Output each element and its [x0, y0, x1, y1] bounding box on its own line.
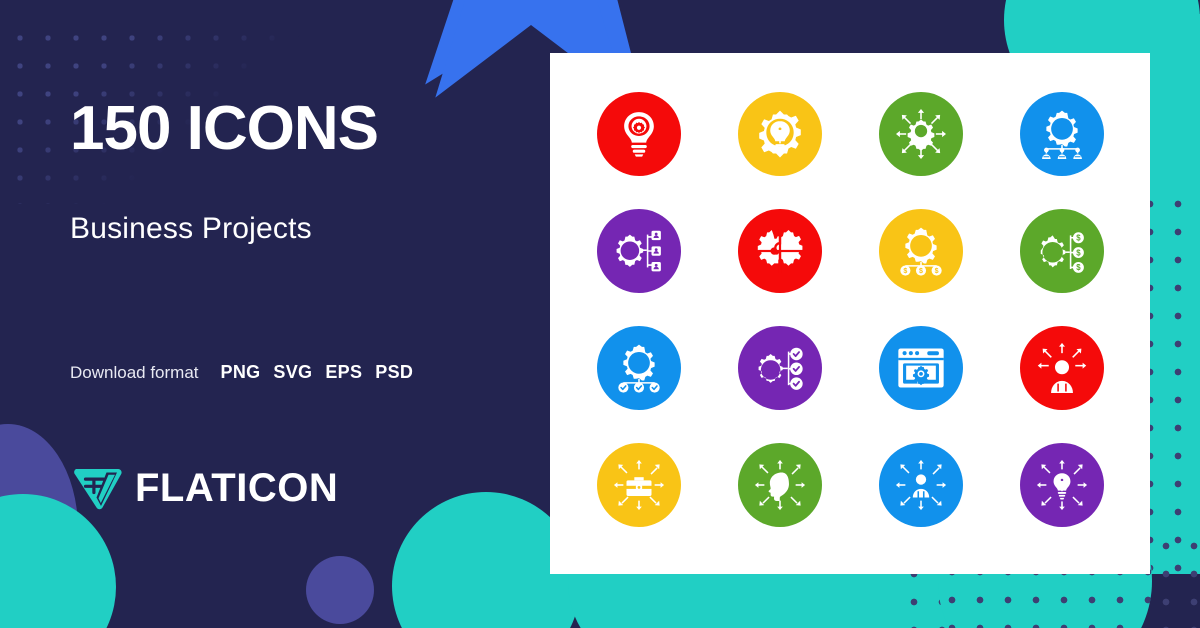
lightbulb-arrows-expand-icon[interactable] — [1020, 443, 1104, 527]
icon-cell — [568, 75, 709, 192]
icon-cell: $$$ — [850, 192, 991, 309]
flaticon-logo[interactable]: FLATICON — [72, 462, 338, 514]
page-title: 150 ICONS — [70, 98, 378, 160]
icon-cell — [709, 427, 850, 544]
icon-cell — [709, 75, 850, 192]
head-profile-arrows-icon[interactable] — [738, 443, 822, 527]
icon-cell — [709, 192, 850, 309]
info-column: 150 ICONS Business Projects Download for… — [70, 0, 540, 628]
gear-checkmarks-tree-icon[interactable] — [597, 326, 681, 410]
svg-text:$: $ — [1076, 248, 1081, 257]
download-format-label: Download format — [70, 363, 199, 383]
browser-window-gear-icon[interactable] — [879, 326, 963, 410]
briefcase-arrows-expand-icon[interactable] — [597, 443, 681, 527]
svg-text:$: $ — [903, 268, 907, 275]
page-subtitle: Business Projects — [70, 212, 312, 246]
icon-grid-panel: $$$ $$$ — [550, 53, 1150, 574]
gear-workflow-list-icon[interactable] — [597, 209, 681, 293]
gear-lightbulb-icon[interactable] — [738, 92, 822, 176]
icon-cell — [709, 310, 850, 427]
flaticon-logo-icon — [72, 462, 124, 514]
gear-checklist-icon[interactable] — [738, 326, 822, 410]
person-arrows-expand-icon[interactable] — [1020, 326, 1104, 410]
icon-cell — [568, 192, 709, 309]
icon-cell — [991, 310, 1132, 427]
two-gears-merge-icon[interactable] — [738, 209, 822, 293]
icon-cell — [850, 427, 991, 544]
svg-text:$: $ — [1076, 233, 1081, 242]
icon-cell — [991, 75, 1132, 192]
user-arrows-expand-icon[interactable] — [879, 443, 963, 527]
format-svg[interactable]: SVG — [273, 362, 312, 383]
lightbulb-gear-icon[interactable] — [597, 92, 681, 176]
svg-text:$: $ — [934, 268, 938, 275]
gear-money-distribution-icon[interactable]: $$$ — [879, 209, 963, 293]
icon-cell — [568, 427, 709, 544]
download-format-list: PNG SVG EPS PSD — [221, 362, 414, 383]
svg-text:$: $ — [919, 268, 923, 275]
gear-org-chart-users-icon[interactable] — [1020, 92, 1104, 176]
format-psd[interactable]: PSD — [375, 362, 413, 383]
icon-cell — [850, 75, 991, 192]
format-eps[interactable]: EPS — [325, 362, 362, 383]
icon-cell: $$$ — [991, 192, 1132, 309]
icon-cell — [568, 310, 709, 427]
gear-money-list-icon[interactable]: $$$ — [1020, 209, 1104, 293]
svg-text:$: $ — [1076, 263, 1081, 272]
flaticon-logo-text: FLATICON — [135, 468, 338, 508]
icon-cell — [850, 310, 991, 427]
gear-arrows-expand-icon[interactable] — [879, 92, 963, 176]
format-png[interactable]: PNG — [221, 362, 261, 383]
icon-cell — [991, 427, 1132, 544]
download-format-row: Download format PNG SVG EPS PSD — [70, 362, 413, 383]
